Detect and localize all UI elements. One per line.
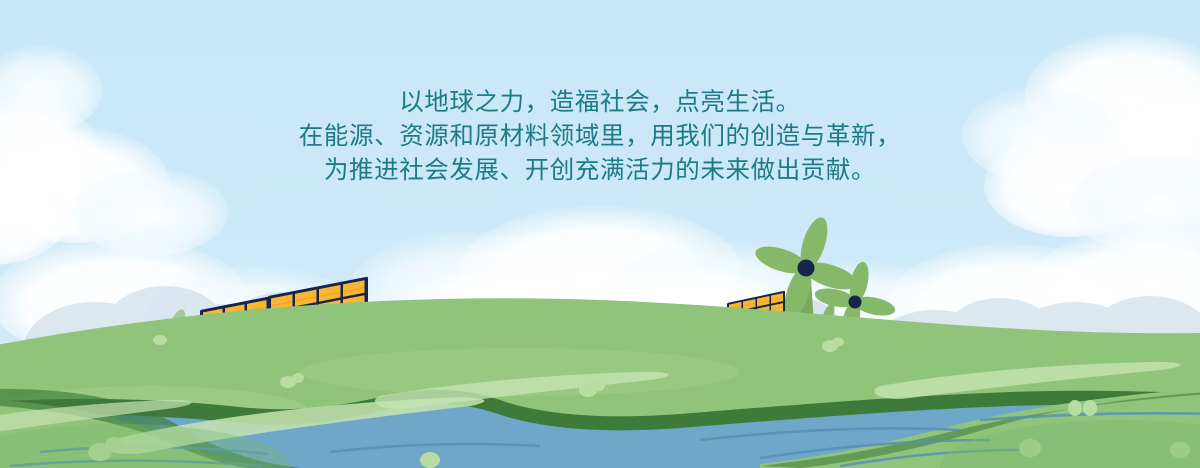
- turbine-hub: [798, 260, 815, 277]
- eco-hero-banner: 以地球之力，造福社会，点亮生活。 在能源、资源和原材料领域里，用我们的创造与革新…: [0, 0, 1200, 468]
- turbine-hub: [849, 296, 862, 309]
- landscape-illustration: [0, 0, 1200, 468]
